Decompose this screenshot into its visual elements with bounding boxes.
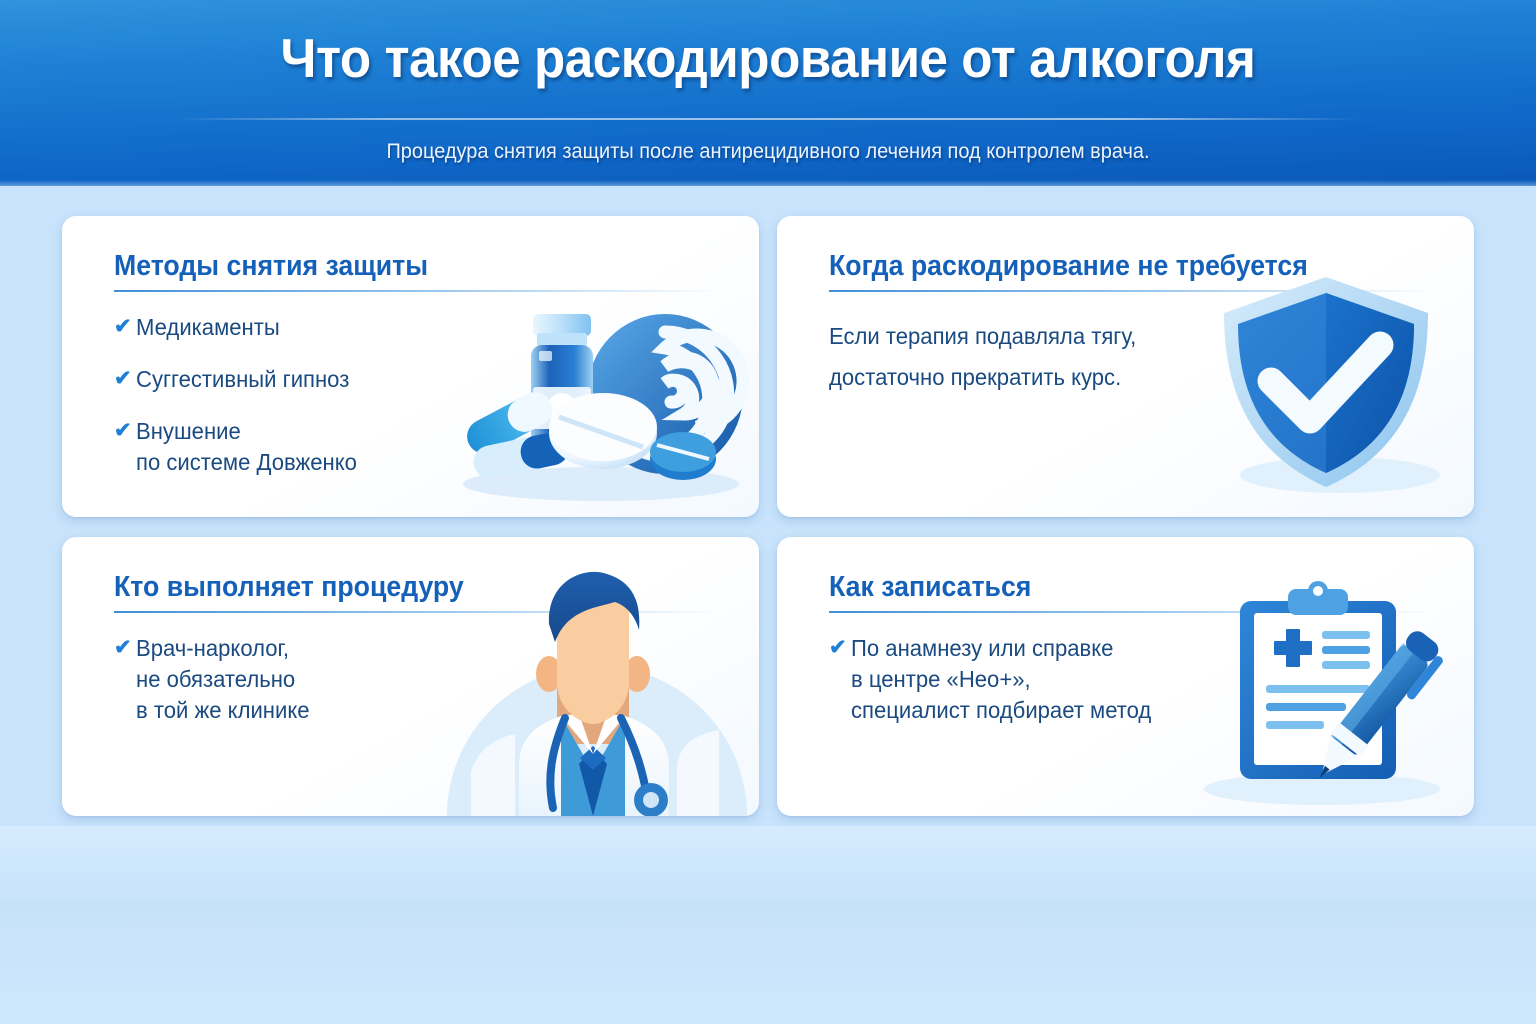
methods-list: ✔ Медикаменты ✔ Суггестивный гипноз ✔ Вн…	[114, 312, 719, 478]
card-methods-header: Методы снятия защиты	[114, 250, 719, 292]
card-who-performs-title: Кто выполняет процедуру	[114, 571, 671, 604]
list-item-label: Врач-нарколог, не обязательно в той же к…	[136, 633, 310, 726]
card-who-performs-body: ✔ Врач-нарколог, не обязательно в той же…	[114, 633, 719, 747]
cards-grid: Методы снятия защиты ✔ Медикаменты ✔ Суг…	[62, 216, 1474, 816]
card-not-required-body: Если терапия подавляла тягу, достаточно …	[829, 312, 1434, 398]
list-item: ✔ Суггестивный гипноз	[114, 364, 719, 395]
page-header: Что такое раскодирование от алкоголя Про…	[0, 0, 1536, 186]
list-item: ✔ Внушение по системе Довженко	[114, 416, 719, 478]
title-underline	[829, 290, 1434, 292]
title-underline	[114, 290, 719, 292]
page-subtitle: Процедура снятия защиты после антирециди…	[38, 140, 1497, 164]
card-methods-body: ✔ Медикаменты ✔ Суггестивный гипноз ✔ Вн…	[114, 312, 719, 499]
list-item: ✔ По анамнезу или справке в центре «Нео+…	[829, 633, 1434, 726]
card-how-to-book: Как записаться ✔ По анамнезу или справке…	[777, 537, 1474, 816]
card-how-to-book-title: Как записаться	[829, 571, 1386, 604]
check-icon: ✔	[114, 633, 136, 663]
page-title: Что такое раскодирование от алкоголя	[54, 26, 1482, 90]
card-who-performs: Кто выполняет процедуру ✔ Врач-нарколог,…	[62, 537, 759, 816]
card-not-required-paragraph: Если терапия подавляла тягу, достаточно …	[829, 312, 1410, 398]
card-how-to-book-body: ✔ По анамнезу или справке в центре «Нео+…	[829, 633, 1434, 747]
list-item-label: По анамнезу или справке в центре «Нео+»,…	[851, 633, 1151, 726]
check-icon: ✔	[114, 416, 136, 446]
card-who-performs-header: Кто выполняет процедуру	[114, 571, 719, 613]
list-item-label: Медикаменты	[136, 312, 280, 343]
how-to-book-list: ✔ По анамнезу или справке в центре «Нео+…	[829, 633, 1434, 726]
list-item-label: Суггестивный гипноз	[136, 364, 349, 395]
who-performs-list: ✔ Врач-нарколог, не обязательно в той же…	[114, 633, 719, 726]
list-item-label: Внушение по системе Довженко	[136, 416, 357, 478]
check-icon: ✔	[114, 312, 136, 342]
list-item: ✔ Медикаменты	[114, 312, 719, 343]
page-footer: Безопасное и контролируемое снятие блока…	[0, 826, 1536, 1024]
card-methods: Методы снятия защиты ✔ Медикаменты ✔ Суг…	[62, 216, 759, 517]
card-methods-title: Методы снятия защиты	[114, 250, 671, 283]
title-underline	[829, 611, 1434, 613]
check-icon: ✔	[114, 364, 136, 394]
card-how-to-book-header: Как записаться	[829, 571, 1434, 613]
header-divider	[175, 118, 1361, 120]
card-not-required-title: Когда раскодирование не требуется	[829, 250, 1386, 283]
title-underline	[114, 611, 719, 613]
card-not-required-header: Когда раскодирование не требуется	[829, 250, 1434, 292]
list-item: ✔ Врач-нарколог, не обязательно в той же…	[114, 633, 719, 726]
check-icon: ✔	[829, 633, 851, 663]
card-not-required: Когда раскодирование не требуется Если т…	[777, 216, 1474, 517]
